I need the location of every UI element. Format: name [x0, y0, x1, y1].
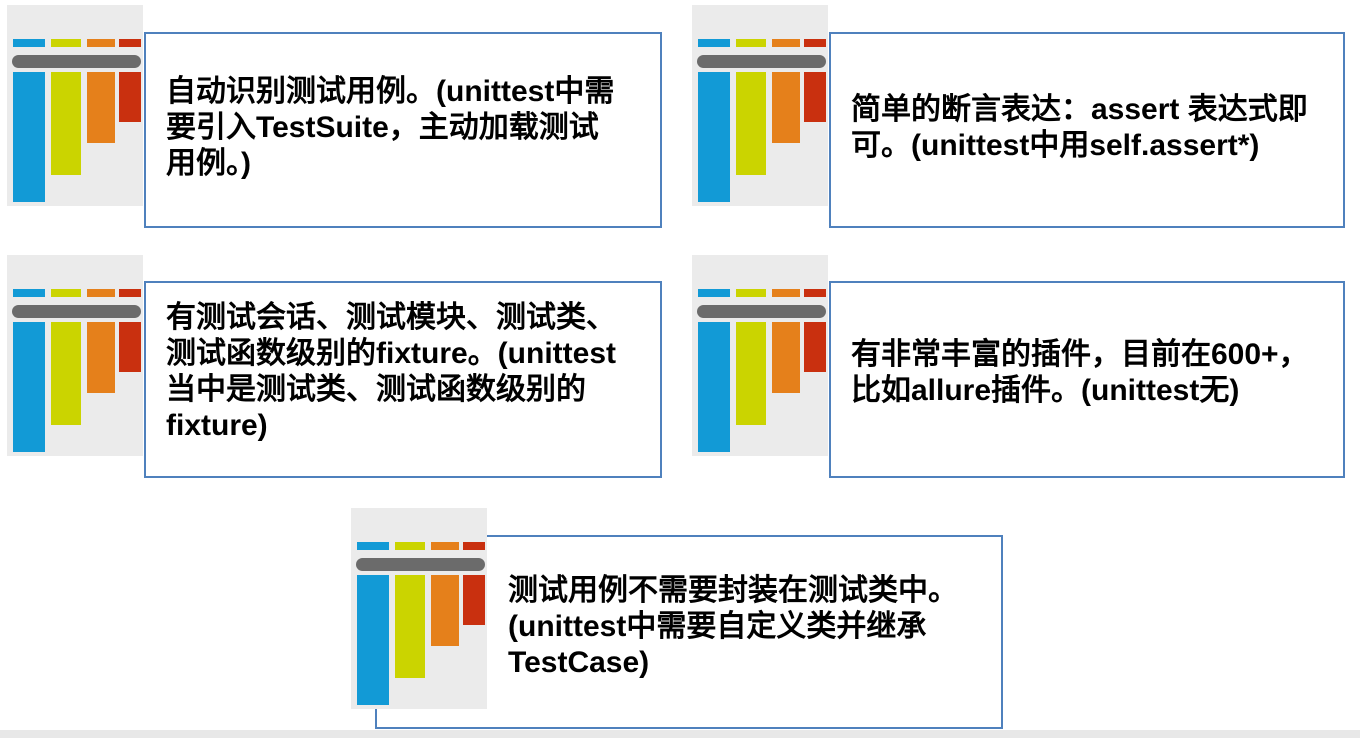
- card-text: 有测试会话、测试模块、测试类、 测试函数级别的fixture。(unittest…: [166, 300, 658, 444]
- bar-chart-icon: [351, 508, 487, 709]
- bar-yellow: [736, 72, 766, 175]
- bar-red: [804, 72, 826, 122]
- slide-footer-strip: [0, 730, 1360, 738]
- chart-track-bar: [12, 305, 141, 318]
- chart-track-bar: [12, 55, 141, 68]
- icon-panel: [7, 5, 143, 206]
- bar-orange: [87, 322, 115, 393]
- bar-orange: [87, 72, 115, 143]
- icon-panel: [692, 5, 828, 206]
- bar-blue: [698, 72, 730, 202]
- mini-bar-yellow: [51, 289, 81, 297]
- icon-panel: [351, 508, 487, 709]
- mini-bar-blue: [13, 39, 45, 47]
- bar-orange: [431, 575, 459, 646]
- bar-blue: [357, 575, 389, 705]
- mini-bar-red: [119, 289, 141, 297]
- bar-orange: [772, 72, 800, 143]
- bar-chart-icon: [692, 255, 828, 456]
- bar-yellow: [51, 322, 81, 425]
- bar-chart-icon: [7, 5, 143, 206]
- mini-bar-blue: [13, 289, 45, 297]
- card-text: 简单的断言表达：assert 表达式即 可。(unittest中用self.as…: [851, 92, 1337, 164]
- bar-chart-icon: [7, 255, 143, 456]
- card-text: 测试用例不需要封装在测试类中。 (unittest中需要自定义类并继承 Test…: [508, 573, 1000, 681]
- mini-bar-orange: [772, 289, 800, 297]
- chart-track-bar: [697, 55, 826, 68]
- chart-track-bar: [697, 305, 826, 318]
- mini-bar-blue: [698, 289, 730, 297]
- bar-red: [119, 322, 141, 372]
- bar-chart-icon: [692, 5, 828, 206]
- icon-panel: [692, 255, 828, 456]
- mini-bar-red: [804, 289, 826, 297]
- mini-bar-blue: [357, 542, 389, 550]
- bar-blue: [13, 322, 45, 452]
- mini-bar-red: [804, 39, 826, 47]
- bar-red: [804, 322, 826, 372]
- slide-canvas: 自动识别测试用例。(unittest中需 要引入TestSuite，主动加载测试…: [0, 0, 1360, 738]
- mini-bar-yellow: [395, 542, 425, 550]
- bar-red: [463, 575, 485, 625]
- bar-orange: [772, 322, 800, 393]
- bar-blue: [13, 72, 45, 202]
- bar-yellow: [51, 72, 81, 175]
- mini-bar-orange: [772, 39, 800, 47]
- mini-bar-red: [119, 39, 141, 47]
- mini-bar-blue: [698, 39, 730, 47]
- mini-bar-yellow: [51, 39, 81, 47]
- mini-bar-yellow: [736, 39, 766, 47]
- bar-yellow: [736, 322, 766, 425]
- mini-bar-orange: [87, 39, 115, 47]
- card-text: 有非常丰富的插件，目前在600+， 比如allure插件。(unittest无): [851, 337, 1343, 409]
- mini-bar-red: [463, 542, 485, 550]
- bar-blue: [698, 322, 730, 452]
- chart-track-bar: [356, 558, 485, 571]
- bar-red: [119, 72, 141, 122]
- mini-bar-orange: [87, 289, 115, 297]
- icon-panel: [7, 255, 143, 456]
- bar-yellow: [395, 575, 425, 678]
- card-text: 自动识别测试用例。(unittest中需 要引入TestSuite，主动加载测试…: [166, 74, 652, 182]
- mini-bar-orange: [431, 542, 459, 550]
- mini-bar-yellow: [736, 289, 766, 297]
